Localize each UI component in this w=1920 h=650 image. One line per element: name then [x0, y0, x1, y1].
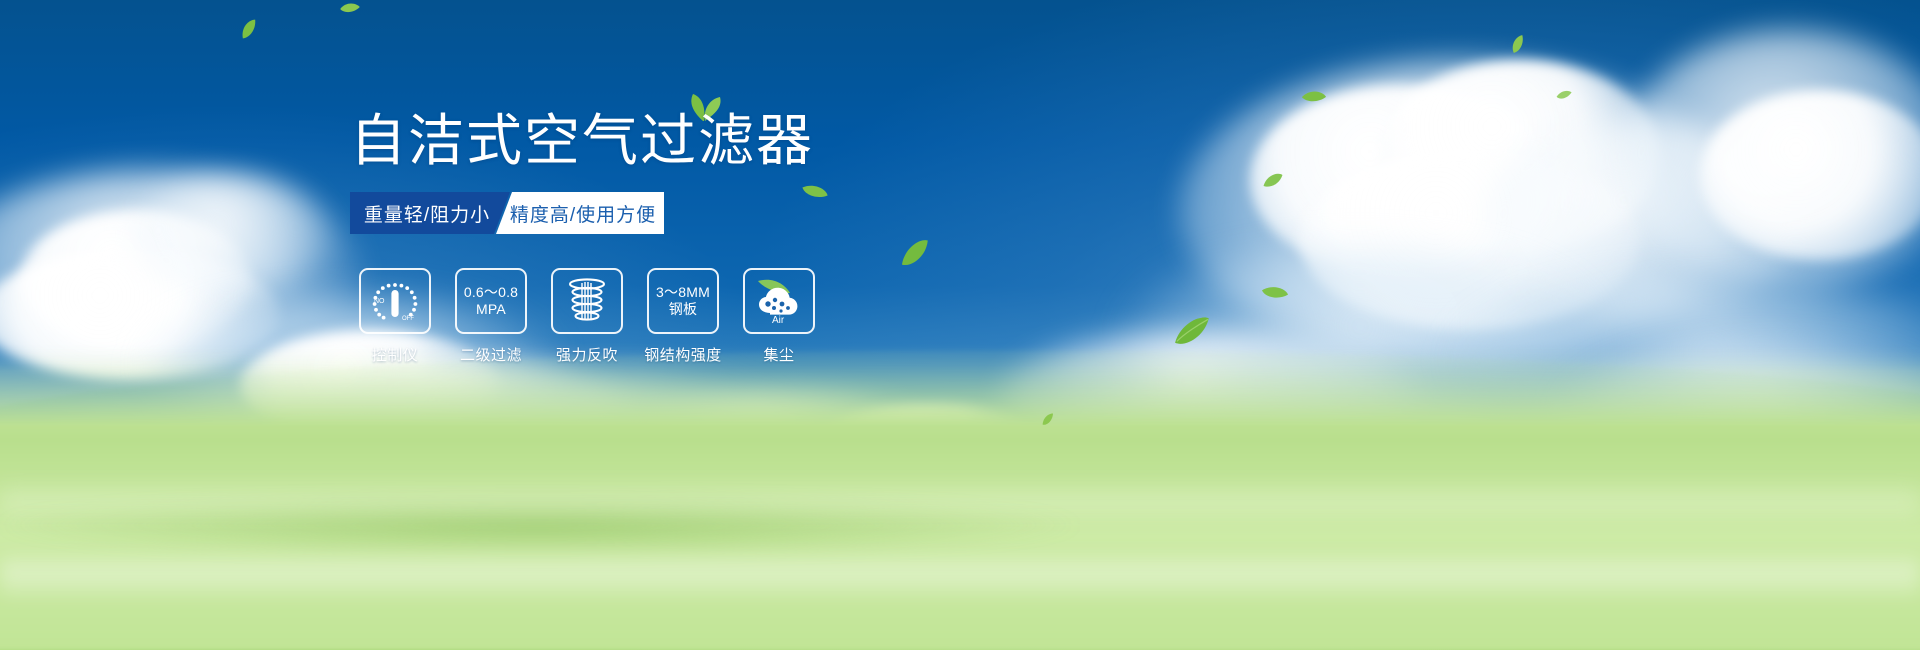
feature-icon-box: 3～8MM 钢板	[647, 268, 719, 334]
feature-item-strong-backblow[interactable]: 强力反吹	[550, 268, 624, 365]
steel-thickness-line2: 钢板	[669, 301, 697, 319]
banner-content: 自洁式空气过滤器 重量轻/阻力小 精度高/使用方便	[0, 0, 1920, 650]
tab-lightweight-low-resistance[interactable]: 重量轻/阻力小	[350, 192, 510, 234]
feature-label: 钢结构强度	[644, 344, 722, 365]
product-banner: 自洁式空气过滤器 重量轻/阻力小 精度高/使用方便	[0, 0, 1920, 650]
tab-label: 重量轻/阻力小	[364, 200, 490, 227]
feature-icon-box: 0.6～0.8 MPA	[455, 268, 527, 334]
pressure-value-line2: MPA	[476, 301, 506, 319]
feature-tab-group: 重量轻/阻力小 精度高/使用方便	[350, 192, 664, 234]
feature-icon-box	[551, 268, 623, 334]
feature-icon-box: Air	[743, 268, 815, 334]
feature-icon-row: NO OFF 控制仪 0.6～0.8 MPA 二级过滤	[358, 268, 816, 365]
gauge-dial-icon: NO OFF	[369, 278, 421, 324]
steel-thickness-line1: 3～8MM	[656, 284, 710, 302]
feature-item-steel-structure[interactable]: 3～8MM 钢板 钢结构强度	[646, 268, 720, 365]
feature-item-controller[interactable]: NO OFF 控制仪	[358, 268, 432, 365]
air-label: Air	[772, 315, 785, 325]
coil-spiral-icon	[564, 277, 610, 325]
gauge-max-label: OFF	[402, 316, 414, 322]
feature-item-secondary-filtration[interactable]: 0.6～0.8 MPA 二级过滤	[454, 268, 528, 365]
feature-label: 强力反吹	[556, 344, 618, 365]
feature-label: 集尘	[763, 344, 794, 365]
gauge-min-label: NO	[374, 298, 385, 305]
pressure-value-line1: 0.6～0.8	[464, 284, 518, 302]
feature-label: 二级过滤	[460, 344, 522, 365]
page-title: 自洁式空气过滤器	[350, 112, 814, 171]
tab-label: 精度高/使用方便	[510, 200, 656, 227]
feature-label: 控制仪	[372, 344, 419, 365]
dust-cloud-icon: Air	[750, 277, 808, 325]
feature-icon-box: NO OFF	[359, 268, 431, 334]
tab-high-precision-easy-use[interactable]: 精度高/使用方便	[496, 192, 664, 234]
feature-item-dust-collection[interactable]: Air 集尘	[742, 268, 816, 365]
